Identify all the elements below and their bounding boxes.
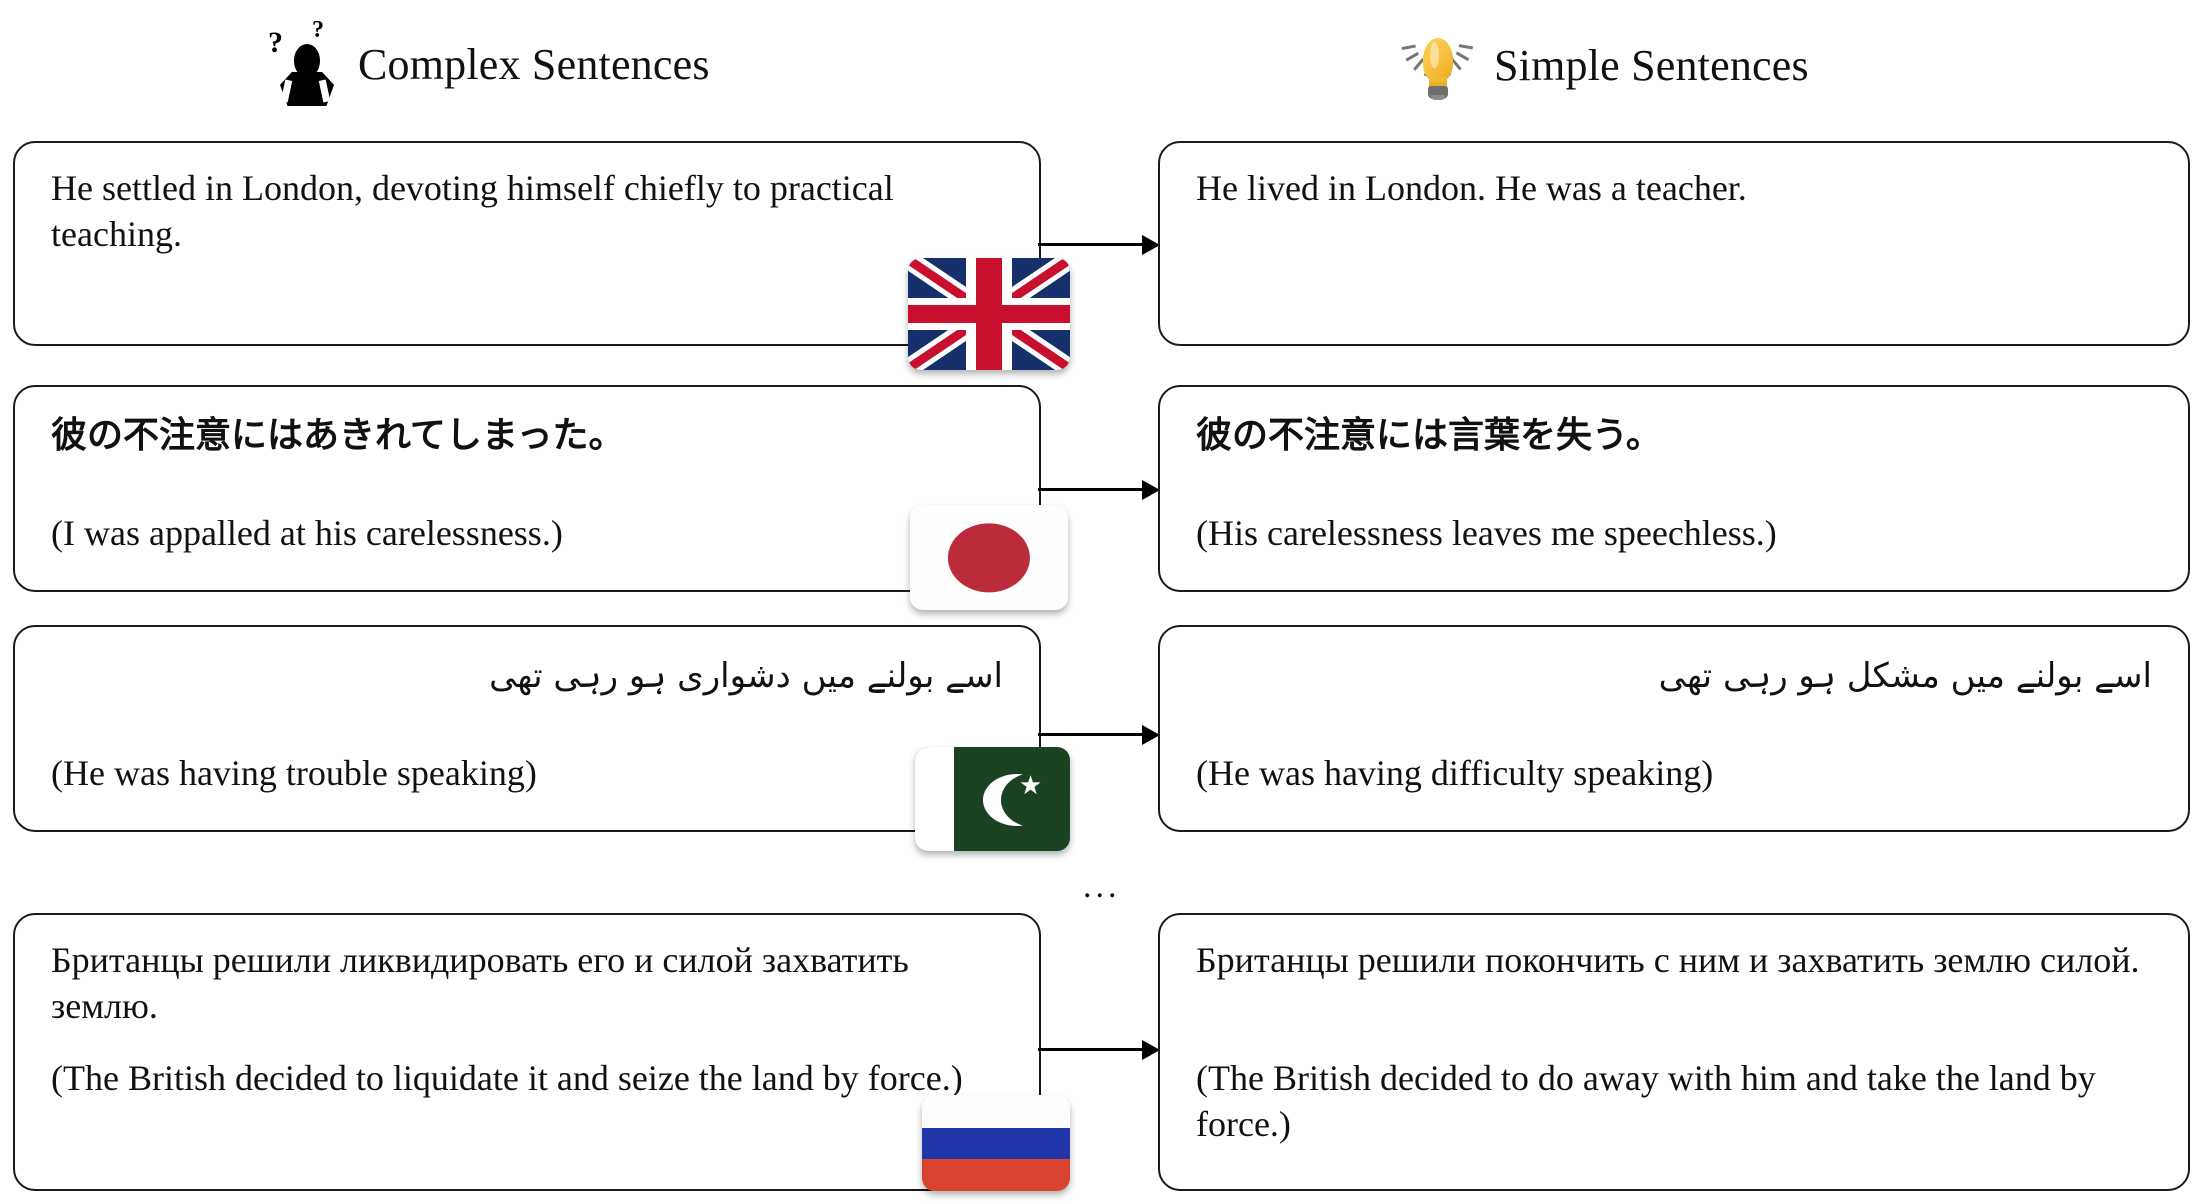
simple-box-row-3[interactable]: اسے بولنے میں مشکل ہو رہی تھی (He was ha…: [1158, 625, 2190, 832]
complex-translation-row-2: (I was appalled at his carelessness.): [51, 510, 1009, 556]
arrow-line-row-1: [1038, 243, 1150, 246]
person-question-icon: ??: [268, 22, 342, 106]
russia-flag: [922, 1095, 1070, 1191]
simple-box-row-2[interactable]: 彼の不注意には言葉を失う。 (His carelessness leaves m…: [1158, 385, 2190, 592]
uk-flag: [908, 258, 1070, 370]
simple-box-row-1[interactable]: He lived in London. He was a teacher.: [1158, 141, 2190, 346]
simple-primary-row-4: Британцы решили покончить с ним и захват…: [1196, 937, 2158, 983]
complex-box-row-2[interactable]: 彼の不注意にはあきれてしまった。 (I was appalled at his …: [13, 385, 1041, 592]
complex-primary-row-2: 彼の不注意にはあきれてしまった。: [51, 413, 1009, 459]
ellipsis-separator: ...: [1083, 870, 1121, 904]
simple-primary-row-2: 彼の不注意には言葉を失う。: [1196, 413, 2158, 459]
complex-box-row-3[interactable]: اسے بولنے میں دشواری ہو رہی تھی (He was …: [13, 625, 1041, 832]
simple-primary-row-3: اسے بولنے میں مشکل ہو رہی تھی: [1190, 655, 2152, 699]
arrow-line-row-4: [1038, 1048, 1150, 1051]
column-title-simple: Simple Sentences: [1494, 40, 1809, 91]
arrow-line-row-2: [1038, 488, 1150, 491]
complex-box-row-1[interactable]: He settled in London, devoting himself c…: [13, 141, 1041, 346]
complex-translation-row-3: (He was having trouble speaking): [51, 750, 1009, 796]
complex-translation-row-4: (The British decided to liquidate it and…: [51, 1055, 1009, 1101]
complex-box-row-4[interactable]: Британцы решили ликвидировать его и сило…: [13, 913, 1041, 1191]
simple-translation-row-4: (The British decided to do away with him…: [1196, 1055, 2158, 1147]
arrow-line-row-3: [1038, 733, 1150, 736]
column-header-simple: Simple Sentences: [1396, 22, 1809, 108]
japan-flag: [910, 505, 1068, 610]
diagram-canvas: ?? Complex Sentences Simple Sentences He…: [0, 0, 2202, 1204]
complex-primary-row-4: Британцы решили ликвидировать его и сило…: [51, 937, 1009, 1029]
lightbulb-icon: [1396, 22, 1478, 108]
simple-translation-row-2: (His carelessness leaves me speechless.): [1196, 510, 2158, 556]
simple-translation-row-3: (He was having difficulty speaking): [1196, 750, 2158, 796]
simple-box-row-4[interactable]: Британцы решили покончить с ним и захват…: [1158, 913, 2190, 1191]
pakistan-flag: ★: [915, 747, 1070, 851]
column-header-complex: ?? Complex Sentences: [268, 22, 710, 106]
column-title-complex: Complex Sentences: [358, 39, 710, 90]
complex-primary-row-3: اسے بولنے میں دشواری ہو رہی تھی: [45, 655, 1003, 699]
simple-primary-row-1: He lived in London. He was a teacher.: [1196, 165, 2158, 211]
complex-primary-row-1: He settled in London, devoting himself c…: [51, 165, 1009, 257]
